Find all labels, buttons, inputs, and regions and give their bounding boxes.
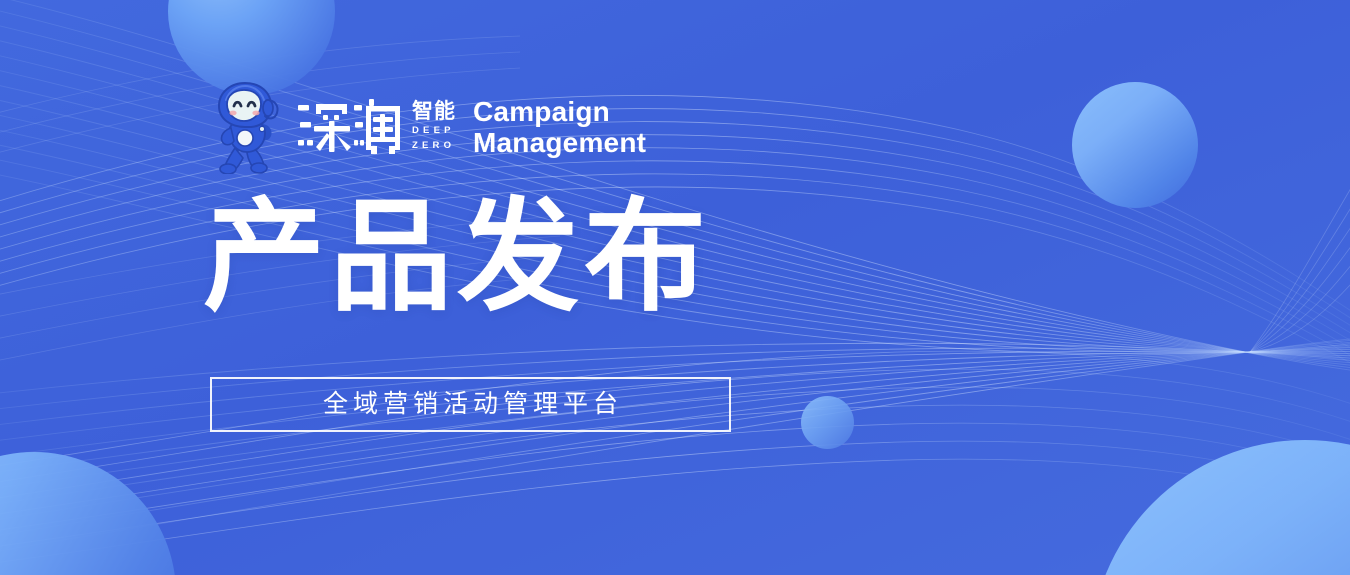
brand-sub-block: 智能 DEEP ZERO: [412, 101, 456, 152]
brand-en-zero: ZERO: [412, 140, 456, 151]
brand-logo-row: 智能 DEEP ZERO Campaign Management: [207, 80, 646, 174]
product-name: Campaign Management: [473, 96, 646, 159]
subtitle-text: 全域营销活动管理平台: [318, 392, 623, 417]
page-title: 产品发布: [203, 196, 711, 318]
brand-wordmark-shenyan: [297, 96, 403, 158]
brand-cn-secondary: 智能: [412, 101, 456, 122]
robot-mascot-icon: [207, 80, 287, 174]
product-name-line1: Campaign: [473, 96, 646, 127]
subtitle-box: 全域营销活动管理平台: [210, 377, 731, 432]
product-name-line2: Management: [473, 127, 646, 158]
brand-en-deep: DEEP: [412, 125, 456, 136]
brand-mark: 智能 DEEP ZERO: [297, 96, 456, 158]
banner-content: 智能 DEEP ZERO Campaign Management 产品发布 全域…: [0, 0, 1350, 575]
product-launch-banner: 智能 DEEP ZERO Campaign Management 产品发布 全域…: [0, 0, 1350, 575]
